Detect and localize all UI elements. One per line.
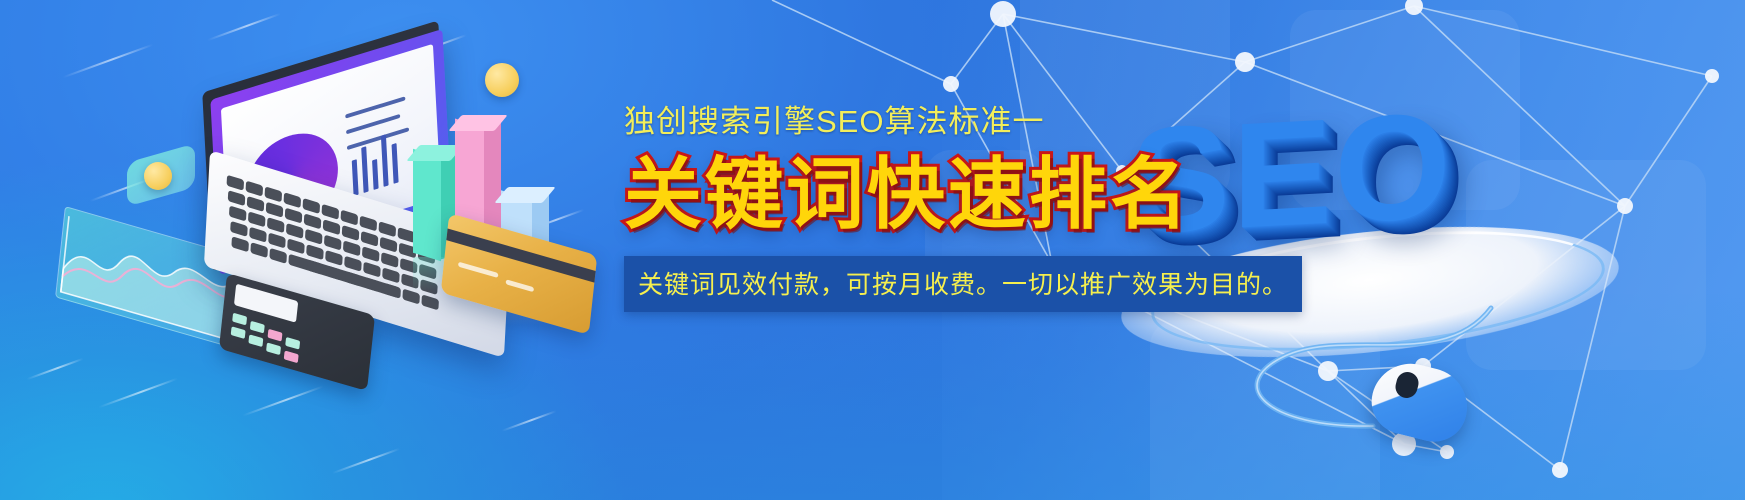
laptop-key [250, 242, 268, 258]
laptop-key [229, 206, 247, 222]
laptop-key [285, 208, 303, 224]
banner-text-block: 独创搜索引擎SEO算法标准一 关键词快速排名 关键词见效付款，可按月收费。一切以… [624, 96, 1204, 312]
laptop-key [287, 238, 305, 254]
laptop-key [344, 256, 362, 272]
coin-icon [144, 162, 172, 190]
laptop-key [268, 233, 286, 249]
laptop-key [363, 262, 381, 278]
laptop-key [248, 211, 266, 227]
laptop-key [380, 237, 398, 253]
laptop-key [249, 227, 267, 243]
laptop-key [230, 221, 248, 237]
laptop-key [361, 231, 379, 247]
banner-subtitle-text: 关键词见效付款，可按月收费。一切以推广效果为目的。 [638, 271, 1288, 299]
laptop-key [325, 250, 343, 266]
laptop-key [383, 283, 401, 299]
floating-coin-icon [485, 63, 519, 97]
laptop-key [342, 225, 360, 241]
laptop-key [247, 196, 265, 212]
laptop-key [382, 267, 400, 283]
laptop-key [304, 213, 322, 229]
banner-subtitle-bar: 关键词见效付款，可按月收费。一切以推广效果为目的。 [624, 256, 1302, 312]
laptop-key [267, 217, 285, 233]
laptop-key [286, 223, 304, 239]
laptop-key [362, 246, 380, 262]
laptop-key [269, 248, 287, 264]
laptop-key [228, 190, 246, 206]
laptop-key [305, 229, 323, 245]
isometric-analytics-illustration [95, 45, 595, 385]
banner-headline: 关键词快速排名 [624, 155, 1204, 236]
laptop-key [266, 202, 284, 218]
seo-promo-banner: SEO 独创搜索引擎SEO算法标准一 关键词快速排名 关键词见效付款，可按月收费… [0, 0, 1745, 500]
laptop-key [421, 294, 439, 310]
laptop-key [343, 240, 361, 256]
banner-eyebrow-text: 独创搜索引擎SEO算法标准一 [624, 96, 1204, 141]
laptop-key [381, 252, 399, 268]
laptop-key [324, 235, 342, 251]
laptop-key [323, 219, 341, 235]
laptop-key [231, 236, 249, 252]
laptop-key [306, 244, 324, 260]
